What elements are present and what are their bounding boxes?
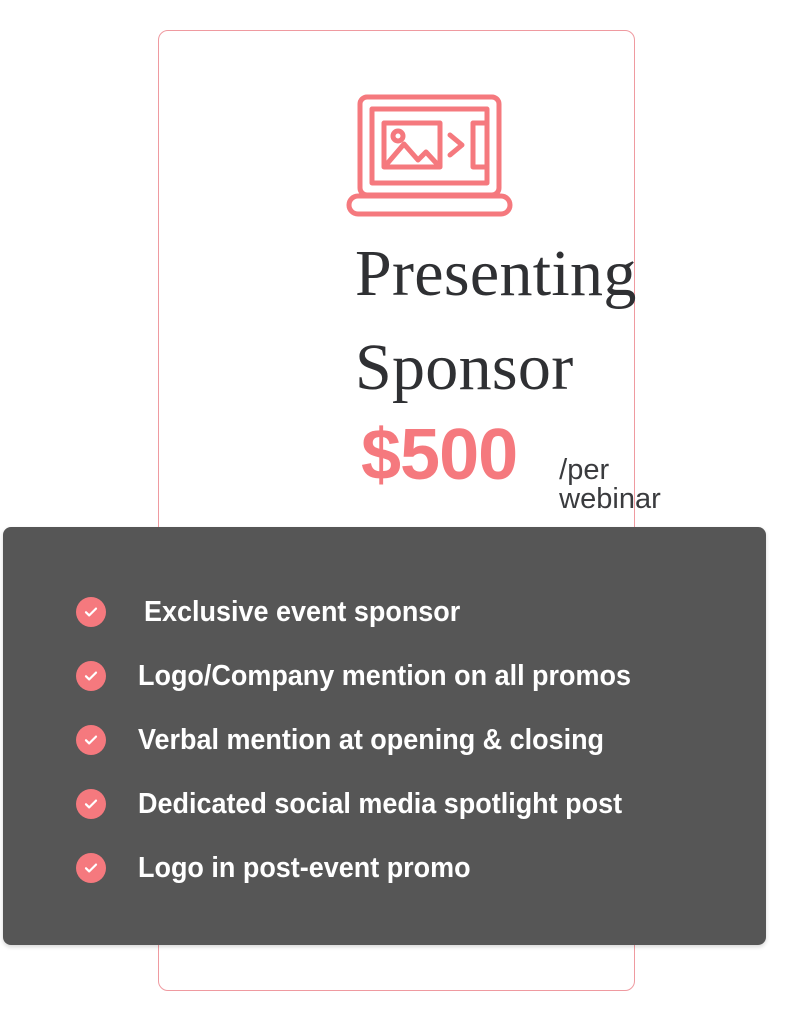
check-circle-icon	[76, 661, 106, 691]
list-item-label: Logo/Company mention on all promos	[138, 660, 631, 692]
check-circle-icon	[76, 597, 106, 627]
list-item: Dedicated social media spotlight post	[76, 772, 746, 836]
price-row: $500 /per webinar	[361, 419, 661, 514]
benefits-panel: Exclusive event sponsor Logo/Company men…	[3, 527, 766, 945]
pricing-card-stage: Presenting Sponsor $500 /per webinar Exc…	[0, 0, 791, 1024]
list-item-label: Exclusive event sponsor	[144, 596, 460, 628]
title-line-2: Sponsor	[355, 321, 785, 415]
check-circle-icon	[76, 853, 106, 883]
list-item: Logo/Company mention on all promos	[76, 644, 746, 708]
list-item: Verbal mention at opening & closing	[76, 708, 746, 772]
price-unit: /per webinar	[559, 456, 661, 514]
list-item: Exclusive event sponsor	[76, 580, 746, 644]
price-amount: $500	[361, 419, 517, 491]
title-line-1: Presenting	[355, 227, 785, 321]
list-item-label: Verbal mention at opening & closing	[138, 724, 604, 756]
check-circle-icon	[76, 725, 106, 755]
list-item: Logo in post-event promo	[76, 836, 746, 900]
benefits-list: Exclusive event sponsor Logo/Company men…	[76, 580, 746, 900]
laptop-presentation-icon	[342, 91, 517, 221]
list-item-label: Logo in post-event promo	[138, 852, 471, 884]
page-title: Presenting Sponsor	[355, 227, 785, 415]
list-item-label: Dedicated social media spotlight post	[138, 788, 622, 820]
check-circle-icon	[76, 789, 106, 819]
